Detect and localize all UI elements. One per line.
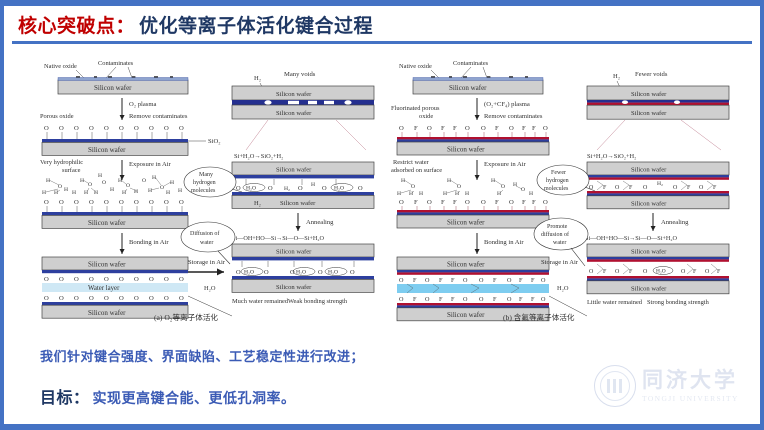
svg-text:O: O [481, 199, 486, 206]
label-h2: H₂ [657, 181, 663, 187]
svg-text:H: H [166, 190, 170, 196]
svg-text:diffusion of: diffusion of [541, 231, 569, 238]
callout-fewer-hydrogen: Fewer hydrogen molecules [537, 165, 595, 195]
label-h2o: H₂O [557, 285, 569, 292]
svg-text:H: H [513, 182, 517, 188]
goal-statement: 目标：实现更高键合能、更低孔洞率。 [40, 384, 296, 408]
svg-text:H: H [447, 178, 451, 184]
svg-text:H: H [311, 182, 315, 188]
svg-text:molecules: molecules [191, 188, 216, 194]
label-silicon-wafer: Silicon wafer [88, 146, 126, 154]
label-reaction-2: Si—OH+HO—Si→Si—O—Si+H₂O [585, 235, 678, 242]
svg-text:F: F [414, 199, 418, 206]
svg-text:O: O [541, 277, 546, 284]
svg-text:O: O [44, 125, 49, 132]
label-silicon-wafer: Silicon wafer [94, 84, 132, 92]
svg-text:F: F [519, 277, 523, 284]
title-highlight: 核心突破点： [18, 16, 135, 37]
label-porous-oxide: Porous oxide [40, 113, 74, 120]
university-seal-icon [594, 365, 636, 407]
label-bonding-in-air: Bonding in Air [129, 239, 169, 246]
svg-text:F: F [531, 296, 535, 303]
svg-text:H: H [409, 191, 413, 197]
label-o2-plasma: O₂ plasma [129, 101, 156, 108]
svg-text:H: H [401, 178, 405, 184]
svg-text:H: H [80, 178, 84, 184]
figure-b: Native oxide Contaminates Silicon wafer … [391, 58, 741, 330]
svg-text:F: F [522, 199, 526, 206]
svg-text:F: F [519, 296, 523, 303]
label-fluorinated-porous: Fluorinated porous [391, 105, 440, 112]
svg-text:O: O [134, 276, 139, 283]
svg-text:H: H [64, 187, 68, 193]
svg-text:H: H [152, 175, 156, 181]
label-silicon-wafer: Silicon wafer [276, 167, 312, 174]
svg-text:O: O [59, 125, 64, 132]
wafer-block-1: Silicon wafer [413, 76, 543, 94]
svg-text:O: O [643, 269, 648, 275]
annealed-stack-a-top: Silicon wafer OO OOO H₂O H₂O [232, 162, 374, 208]
svg-text:O: O [681, 269, 686, 275]
svg-text:H: H [497, 191, 501, 197]
svg-text:O: O [465, 125, 470, 132]
svg-text:O: O [89, 276, 94, 283]
svg-text:O: O [164, 199, 169, 206]
svg-text:O: O [119, 199, 124, 206]
figure-a-svg: Native oxide Contaminates Silicon wafer [36, 58, 386, 322]
svg-text:H: H [443, 191, 447, 197]
svg-text:F: F [453, 125, 457, 132]
svg-text:O: O [59, 276, 64, 283]
svg-text:O: O [399, 125, 404, 132]
svg-text:O: O [59, 199, 64, 206]
svg-text:H: H [148, 188, 152, 194]
voids-stack-a: Silicon wafer Silicon wafer [232, 86, 374, 119]
svg-text:O: O [88, 182, 92, 188]
svg-text:O: O [427, 199, 432, 206]
voids-stack-b: Silicon wafer Silicon wafer [587, 86, 729, 119]
svg-text:O: O [74, 199, 79, 206]
figure-b-svg: Native oxide Contaminates Silicon wafer … [391, 58, 741, 322]
water-molecule-cloud-a: HOH HHH HOH HOH HHO HHO HHO HHH [42, 173, 182, 196]
svg-text:O: O [425, 296, 430, 303]
oxygen-fluorine-row-2: OF OF FO OF OF FO [399, 199, 548, 206]
wafer-block-3: Silicon wafer [42, 212, 188, 228]
svg-text:H: H [98, 173, 102, 179]
label-silicon-wafer: Silicon wafer [447, 219, 485, 227]
logo-english-name: TONGJI UNIVERSITY [642, 395, 739, 403]
svg-text:F: F [495, 199, 499, 206]
svg-text:O: O [160, 185, 164, 191]
label-native-oxide: Native oxide [399, 63, 432, 70]
svg-text:O: O [399, 199, 404, 206]
goal-label: 目标： [40, 390, 90, 407]
label-strong-bonding-strength: Strong bonding strength [647, 299, 710, 306]
label-restrict-water: Restrict water [393, 159, 430, 166]
svg-text:O: O [142, 178, 146, 184]
svg-text:Diffusion of: Diffusion of [190, 230, 219, 237]
svg-text:O: O [425, 277, 430, 284]
svg-text:O: O [705, 269, 710, 275]
label-silicon-wafer: Silicon wafer [280, 200, 316, 207]
svg-text:O: O [179, 295, 184, 302]
svg-text:O: O [615, 269, 620, 275]
svg-text:O: O [298, 185, 303, 192]
svg-text:O: O [481, 125, 486, 132]
svg-text:F: F [522, 125, 526, 132]
svg-text:O: O [507, 296, 512, 303]
svg-text:F: F [693, 269, 697, 275]
wafer-block-1: Silicon wafer [58, 76, 188, 94]
svg-text:O: O [104, 199, 109, 206]
oxygen-row-2: OOO OOO OOO O [44, 199, 184, 206]
final-stack-a: Silicon wafer OO OOO H₂O [232, 244, 374, 292]
label-very-hydrophilic-2: surface [62, 167, 81, 174]
label-native-oxide: Native oxide [44, 63, 77, 70]
page-title: 核心突破点：优化等离子体活化键合过程 [18, 11, 373, 38]
svg-text:F: F [629, 185, 633, 191]
label-much-water-remained: Much water remained [232, 298, 289, 305]
label-h2: H₂ [254, 200, 261, 207]
svg-text:O: O [236, 269, 241, 276]
title-main: 优化等离子体活化键合过程 [139, 16, 373, 37]
svg-text:O: O [699, 185, 704, 191]
svg-text:O: O [179, 125, 184, 132]
svg-text:O: O [673, 185, 678, 191]
svg-text:F: F [532, 125, 536, 132]
svg-text:O: O [427, 125, 432, 132]
svg-text:O: O [44, 199, 49, 206]
svg-text:O: O [521, 187, 525, 193]
svg-text:O: O [149, 125, 154, 132]
label-contaminates: Contaminates [453, 60, 489, 67]
figure-area: Native oxide Contaminates Silicon wafer [36, 58, 736, 330]
label-reaction-2: Si—OH+HO—Si→Si—O—Si+H₂O [232, 235, 325, 242]
svg-text:O: O [399, 296, 404, 303]
svg-text:hydrogen: hydrogen [193, 180, 216, 186]
label-silicon-wafer: Silicon wafer [276, 249, 312, 256]
label-silicon-wafer: Silicon wafer [276, 91, 312, 98]
water-molecule-cloud-b: HOH HH HOH HH HOH HOH [397, 178, 533, 197]
svg-text:O: O [322, 185, 327, 192]
svg-text:molecules: molecules [544, 186, 569, 192]
svg-text:O: O [74, 295, 79, 302]
svg-text:O: O [164, 125, 169, 132]
label-silicon-wafer: Silicon wafer [88, 261, 126, 269]
svg-text:H: H [491, 178, 495, 184]
figure-a: Native oxide Contaminates Silicon wafer [36, 58, 386, 330]
wafer-block-2: Silicon wafer [397, 137, 549, 155]
label-silicon-wafer: Silicon wafer [631, 110, 667, 117]
svg-text:O: O [268, 185, 273, 192]
svg-text:O: O [89, 125, 94, 132]
svg-text:O: O [479, 277, 484, 284]
svg-text:H: H [529, 191, 533, 197]
svg-text:Fewer: Fewer [551, 170, 566, 176]
slide-title-bar: 核心突破点：优化等离子体活化键合过程 [4, 6, 760, 42]
oxygen-row-1: OOO OOO OOO O [44, 125, 184, 132]
tongji-university-logo: 同济大学 TONGJI UNIVERSITY [594, 358, 746, 414]
svg-text:O: O [164, 276, 169, 283]
label-annealing: Annealing [306, 219, 334, 226]
figure-a-caption: (a) O₂等离子体活化 [154, 312, 218, 322]
svg-text:hydrogen: hydrogen [546, 178, 569, 184]
callout-diffusion-of-water: Diffusion of water [181, 222, 235, 264]
label-silicon-wafer: Silicon wafer [447, 261, 485, 269]
annealed-stack-b-top: Silicon wafer OF OF O OF OF H₂ [587, 162, 729, 209]
label-silicon-wafer: Silicon wafer [631, 200, 667, 207]
label-water-layer: Water layer [88, 285, 120, 292]
svg-text:H: H [419, 191, 423, 197]
svg-text:H: H [122, 190, 126, 196]
svg-text:water: water [200, 240, 213, 246]
svg-text:O: O [134, 125, 139, 132]
svg-text:O: O [463, 296, 468, 303]
goal-text: 实现更高键合能、更低孔洞率。 [93, 390, 296, 406]
label-reaction-1: Si+H₂O→SiO₂+H₂ [234, 153, 283, 160]
figure-b-caption: (b) 含氟等离子体活化 [503, 312, 575, 322]
svg-text:O: O [119, 295, 124, 302]
svg-text:O: O [543, 199, 548, 206]
svg-text:O: O [290, 269, 295, 276]
svg-text:O: O [44, 276, 49, 283]
label-annealing: Annealing [661, 219, 689, 226]
svg-text:F: F [687, 185, 691, 191]
svg-text:O: O [350, 269, 355, 276]
svg-text:H: H [455, 191, 459, 197]
svg-text:F: F [413, 277, 417, 284]
svg-text:O: O [509, 199, 514, 206]
svg-text:O: O [104, 125, 109, 132]
svg-text:O: O [509, 125, 514, 132]
label-storage-in-air: Storage in Air [541, 259, 579, 266]
label-very-hydrophilic: Very hydrophilic [40, 159, 83, 166]
label-h2o: H₂O [204, 285, 216, 292]
final-stack-b: Silicon wafer OF OF O OF OF H₂O [587, 244, 729, 294]
svg-text:F: F [713, 185, 717, 191]
svg-text:H₂O: H₂O [328, 270, 338, 276]
svg-text:H₂O: H₂O [656, 269, 666, 275]
svg-text:O: O [149, 276, 154, 283]
svg-text:H₂O: H₂O [244, 270, 254, 276]
svg-text:F: F [717, 269, 721, 275]
svg-text:F: F [439, 277, 443, 284]
svg-text:O: O [479, 296, 484, 303]
svg-text:O: O [104, 276, 109, 283]
svg-text:O: O [541, 296, 546, 303]
svg-text:O: O [399, 277, 404, 284]
label-weak-bonding-strength: Weak bonding strength [288, 298, 348, 305]
svg-text:O: O [465, 199, 470, 206]
label-reaction-1: Si+H₂O→SiO₂+H₂ [587, 153, 636, 160]
svg-text:O: O [44, 295, 49, 302]
label-silicon-wafer: Silicon wafer [276, 284, 312, 291]
slide: 核心突破点：优化等离子体活化键合过程 Native oxide Contamin… [0, 0, 764, 430]
svg-text:H₂O: H₂O [334, 186, 344, 192]
svg-text:H: H [118, 178, 122, 184]
svg-text:H: H [46, 178, 50, 184]
svg-text:O: O [149, 199, 154, 206]
label-restrict-water-2: adsorbed on surface [391, 167, 442, 174]
oxygen-fluorine-row-1: OF OF FO OF OF FO [399, 125, 548, 132]
bonded-stack-a: Silicon wafer OOO OOO OOO O Water layer … [42, 257, 188, 318]
svg-text:F: F [451, 277, 455, 284]
logo-wordmark: 同济大学 TONGJI UNIVERSITY [642, 370, 739, 403]
svg-text:F: F [451, 296, 455, 303]
svg-text:H₂O: H₂O [246, 186, 256, 192]
svg-text:H: H [72, 190, 76, 196]
wafer-block-3: Silicon wafer [397, 210, 549, 228]
svg-text:O: O [164, 295, 169, 302]
svg-text:O: O [134, 295, 139, 302]
svg-text:F: F [414, 125, 418, 132]
svg-text:O: O [149, 295, 154, 302]
svg-text:O: O [507, 277, 512, 284]
svg-text:O: O [543, 125, 548, 132]
svg-text:O: O [318, 269, 323, 276]
label-many-voids: Many voids [284, 71, 316, 78]
svg-text:F: F [453, 199, 457, 206]
svg-text:O: O [119, 125, 124, 132]
improvement-statement: 我们针对键合强度、界面缺陷、工艺稳定性进行改进； [40, 346, 364, 365]
label-bonding-in-air: Bonding in Air [484, 239, 524, 246]
label-silicon-wafer: Silicon wafer [631, 249, 667, 256]
svg-text:O: O [179, 276, 184, 283]
svg-text:F: F [441, 125, 445, 132]
svg-text:O: O [59, 295, 64, 302]
svg-text:H: H [54, 190, 58, 196]
bonded-stack-b: Silicon wafer OF OF FO OF OF FO OF OF [397, 257, 549, 321]
svg-text:O: O [89, 295, 94, 302]
label-silicon-wafer: Silicon wafer [631, 91, 667, 98]
logo-chinese-name: 同济大学 [642, 370, 739, 391]
label-little-water-remained: Little water remained [587, 299, 643, 306]
svg-text:H: H [397, 191, 401, 197]
svg-text:O: O [589, 269, 594, 275]
svg-text:O: O [102, 180, 106, 186]
label-silicon-wafer: Silicon wafer [631, 167, 667, 174]
label-fluorinated-porous-2: oxide [419, 113, 433, 120]
svg-text:Promote: Promote [547, 224, 568, 230]
label-silicon-wafer: Silicon wafer [88, 219, 126, 227]
label-cf4-plasma: (O₂+CF₄) plasma [484, 101, 530, 108]
svg-text:F: F [629, 269, 633, 275]
svg-text:F: F [441, 199, 445, 206]
svg-text:O: O [179, 199, 184, 206]
wafer-block-2: Silicon wafer [42, 139, 188, 155]
svg-text:H: H [170, 180, 174, 186]
svg-text:O: O [104, 295, 109, 302]
title-divider [12, 41, 752, 44]
svg-text:H₂O: H₂O [296, 270, 306, 276]
label-exposure-in-air: Exposure in Air [129, 161, 172, 168]
svg-text:water: water [553, 240, 566, 246]
svg-text:O: O [119, 276, 124, 283]
label-silicon-wafer: Silicon wafer [449, 84, 487, 92]
svg-text:H₂: H₂ [284, 186, 290, 192]
svg-text:F: F [439, 296, 443, 303]
svg-text:F: F [603, 269, 607, 275]
svg-text:F: F [493, 296, 497, 303]
svg-text:O: O [615, 185, 620, 191]
svg-text:O: O [643, 185, 648, 191]
svg-text:O: O [74, 125, 79, 132]
label-silicon-wafer: Silicon wafer [88, 309, 126, 317]
svg-text:O: O [134, 199, 139, 206]
svg-text:H: H [178, 188, 182, 194]
svg-text:F: F [413, 296, 417, 303]
svg-text:F: F [532, 199, 536, 206]
svg-text:F: F [495, 125, 499, 132]
label-silicon-wafer: Silicon wafer [631, 285, 667, 292]
label-remove-contaminates: Remove contaminates [129, 113, 188, 120]
svg-text:O: O [89, 199, 94, 206]
label-contaminates: Contaminates [98, 60, 134, 67]
label-silicon-wafer: Silicon wafer [447, 311, 485, 319]
label-remove-contaminates: Remove contaminates [484, 113, 543, 120]
label-storage-in-air: Storage in Air [188, 259, 226, 266]
svg-text:O: O [358, 185, 363, 192]
label-fewer-voids: Fewer voids [635, 71, 668, 78]
svg-text:Many: Many [199, 172, 213, 178]
label-h2: H₂ [254, 75, 261, 82]
svg-text:F: F [531, 277, 535, 284]
label-h2: H₂ [613, 73, 620, 80]
label-exposure-in-air: Exposure in Air [484, 161, 527, 168]
label-silicon-wafer: Silicon wafer [447, 146, 485, 154]
svg-text:O: O [126, 183, 130, 189]
svg-text:F: F [603, 185, 607, 191]
svg-text:O: O [463, 277, 468, 284]
svg-text:H: H [110, 187, 114, 193]
svg-text:F: F [493, 277, 497, 284]
label-sio2: SiO₂ [208, 138, 221, 145]
svg-text:H: H [42, 190, 46, 196]
svg-text:O: O [264, 269, 269, 276]
svg-text:H: H [465, 191, 469, 197]
label-silicon-wafer: Silicon wafer [276, 110, 312, 117]
svg-text:O: O [74, 276, 79, 283]
